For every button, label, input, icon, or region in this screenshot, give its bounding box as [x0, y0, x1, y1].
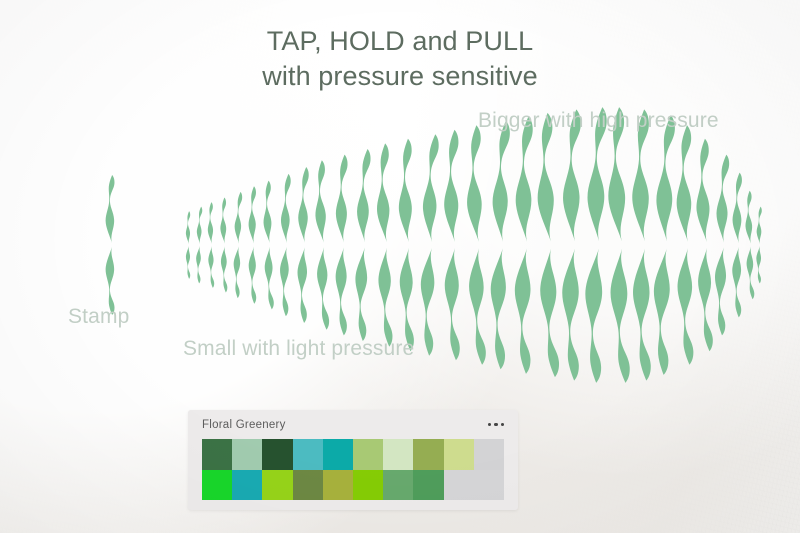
swatch-1-1[interactable]: [202, 439, 232, 470]
stamp-31: [756, 207, 762, 284]
stamp-17: [465, 125, 486, 365]
stamp-11: [335, 155, 347, 336]
color-palette-panel[interactable]: Floral Greenery: [188, 410, 518, 510]
swatch-2-2[interactable]: [232, 470, 262, 501]
stamp-4: [220, 198, 227, 293]
stamp-3: [207, 202, 214, 288]
stamp-2: [195, 207, 202, 284]
swatch-2-8[interactable]: [413, 470, 443, 501]
stamp-21: [562, 109, 581, 380]
swatch-2-4[interactable]: [293, 470, 323, 501]
swatch-2-6[interactable]: [353, 470, 383, 501]
stamp-13: [376, 143, 393, 347]
stamp-22: [583, 107, 607, 383]
swatch-row-1: [202, 439, 504, 470]
palette-header: Floral Greenery: [188, 410, 518, 439]
stamp-15: [419, 134, 439, 356]
stamp-12: [354, 149, 371, 341]
swatch-1-4[interactable]: [293, 439, 323, 470]
swatch-2-7[interactable]: [383, 470, 413, 501]
stamp-10: [314, 160, 329, 330]
stamp-16: [444, 130, 460, 361]
swatch-1-7[interactable]: [383, 439, 413, 470]
stamp-8: [279, 174, 291, 317]
swatch-1-8[interactable]: [413, 439, 443, 470]
swatch-row-2: [202, 470, 504, 501]
stamp-25: [652, 115, 676, 375]
swatch-1-6[interactable]: [353, 439, 383, 470]
stamp-14: [398, 139, 414, 352]
swatch-1-5[interactable]: [323, 439, 353, 470]
stamp-23: [606, 107, 630, 383]
swatch-1-3[interactable]: [262, 439, 292, 470]
stamp-30: [745, 191, 755, 300]
stamp-26: [676, 125, 694, 365]
annotation-stamp: Stamp: [68, 305, 129, 329]
ellipsis-dot-3: [501, 423, 505, 427]
ellipsis-dot-1: [488, 423, 492, 427]
stamp-1: [186, 211, 190, 279]
swatch-1-10[interactable]: [474, 439, 504, 470]
stamp-27: [695, 139, 713, 352]
stamp-29: [732, 173, 742, 318]
swatch-grid: [188, 439, 518, 510]
swatch-1-2[interactable]: [232, 439, 262, 470]
title-line-2: with pressure sensitive: [0, 59, 800, 94]
swatch-2-1[interactable]: [202, 470, 232, 501]
palette-title: Floral Greenery: [202, 419, 286, 431]
annotation-small-with-light-pressure: Small with light pressure: [183, 337, 414, 361]
stamp-7: [262, 181, 273, 310]
title-line-1: TAP, HOLD and PULL: [0, 24, 800, 59]
ellipsis-icon[interactable]: [486, 419, 507, 431]
stamp-20: [535, 113, 559, 378]
stamp-24: [632, 109, 651, 380]
annotation-bigger-with-high-pressure: Bigger with high pressure: [478, 109, 719, 133]
stamp-5: [233, 192, 243, 298]
stamp-18: [489, 120, 510, 369]
page-title: TAP, HOLD and PULL with pressure sensiti…: [0, 24, 800, 93]
swatch-2-3[interactable]: [262, 470, 292, 501]
ellipsis-dot-2: [494, 423, 498, 427]
stamp-single: [106, 175, 115, 315]
swatch-2-9[interactable]: [444, 470, 474, 501]
screenshot-root: TAP, HOLD and PULL with pressure sensiti…: [0, 0, 800, 533]
swatch-1-9[interactable]: [444, 439, 474, 470]
swatch-2-10[interactable]: [474, 470, 504, 501]
stamp-9: [297, 167, 309, 323]
swatch-2-5[interactable]: [323, 470, 353, 501]
stamp-19: [514, 116, 533, 374]
stamp-6: [249, 186, 257, 304]
stamp-28: [714, 154, 730, 335]
